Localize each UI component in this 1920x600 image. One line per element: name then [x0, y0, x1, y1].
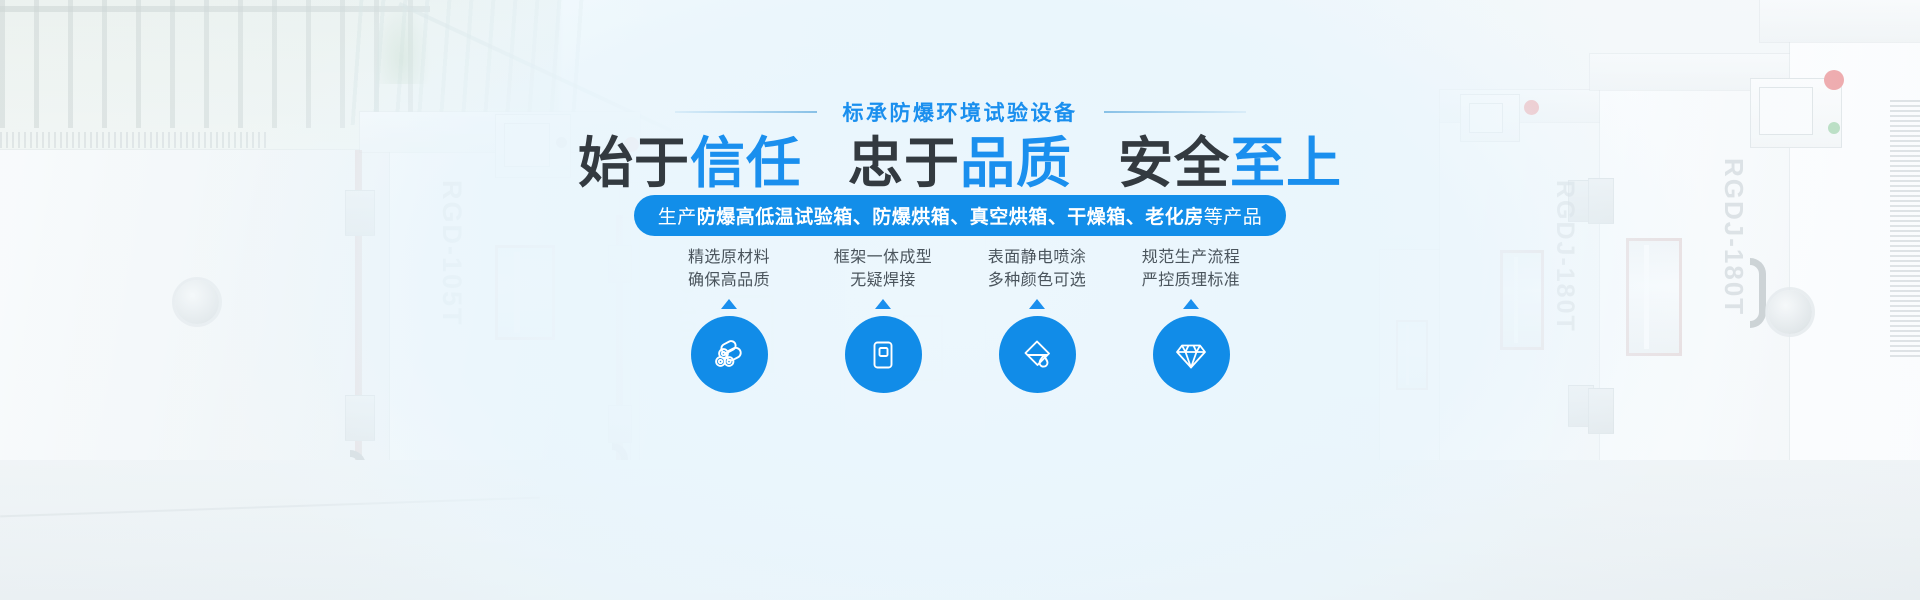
- feature-2-line1: 框架一体成型: [834, 246, 932, 269]
- headline-part2-dark: 忠于: [848, 132, 960, 194]
- feature-1-line2: 确保高品质: [688, 269, 770, 292]
- feature-item-4[interactable]: 规范生产流程 严控质理标准: [1129, 246, 1254, 393]
- headline-part1-dark: 始于: [578, 132, 690, 194]
- feature-2-icon-circle[interactable]: [845, 316, 922, 393]
- paint-fill-icon: [1017, 335, 1057, 375]
- feature-3-line2: 多种颜色可选: [988, 269, 1086, 292]
- feature-2-line2: 无疑焊接: [850, 269, 916, 292]
- diamond-icon: [1171, 335, 1211, 375]
- headline-part1-blue: 信任: [690, 132, 802, 194]
- headline-part3-blue: 至上: [1230, 132, 1342, 194]
- feature-3-icon-circle[interactable]: [999, 316, 1076, 393]
- triangle-pointer-icon: [1029, 299, 1045, 309]
- feature-4-icon-circle[interactable]: [1153, 316, 1230, 393]
- material-rolls-icon: [709, 335, 749, 375]
- cabinet-frame-icon: [864, 336, 902, 374]
- triangle-pointer-icon: [1183, 299, 1199, 309]
- rule-right-decoration: [1104, 111, 1246, 113]
- feature-4-line2: 严控质理标准: [1142, 269, 1240, 292]
- triangle-pointer-icon: [875, 299, 891, 309]
- triangle-pointer-icon: [721, 299, 737, 309]
- feature-item-2[interactable]: 框架一体成型 无疑焊接: [821, 246, 946, 393]
- eyebrow-text: 标承防爆环境试验设备: [843, 97, 1078, 127]
- feature-1-icon-circle[interactable]: [691, 316, 768, 393]
- feature-item-1[interactable]: 精选原材料 确保高品质: [667, 246, 792, 393]
- feature-item-3[interactable]: 表面静电喷涂 多种颜色可选: [975, 246, 1100, 393]
- promo-banner: RGD-105T RGD-100: [0, 0, 1920, 600]
- feature-3-line1: 表面静电喷涂: [988, 246, 1086, 269]
- rule-left-decoration: [675, 111, 817, 113]
- subtitle-pill-wrap: 生产防爆高低温试验箱、防爆烘箱、真空烘箱、干燥箱、老化房等产品: [0, 195, 1920, 236]
- pill-products: 防爆高低温试验箱、防爆烘箱、真空烘箱、干燥箱、老化房: [697, 202, 1204, 229]
- page-title: 始于信任忠于品质安全至上: [0, 129, 1920, 198]
- headline-part2-blue: 品质: [960, 132, 1072, 194]
- subtitle-pill: 生产防爆高低温试验箱、防爆烘箱、真空烘箱、干燥箱、老化房等产品: [634, 195, 1287, 236]
- pill-lead: 生产: [658, 202, 697, 229]
- feature-list: 精选原材料 确保高品质 框架一体: [0, 246, 1920, 393]
- feature-4-line1: 规范生产流程: [1142, 246, 1240, 269]
- banner-content: 标承防爆环境试验设备 始于信任忠于品质安全至上 生产防爆高低温试验箱、防爆烘箱、…: [0, 0, 1920, 600]
- pill-tail: 等产品: [1204, 202, 1263, 229]
- eyebrow-row: 标承防爆环境试验设备: [0, 97, 1920, 127]
- headline-part3-dark: 安全: [1118, 132, 1230, 194]
- feature-1-line1: 精选原材料: [688, 246, 770, 269]
